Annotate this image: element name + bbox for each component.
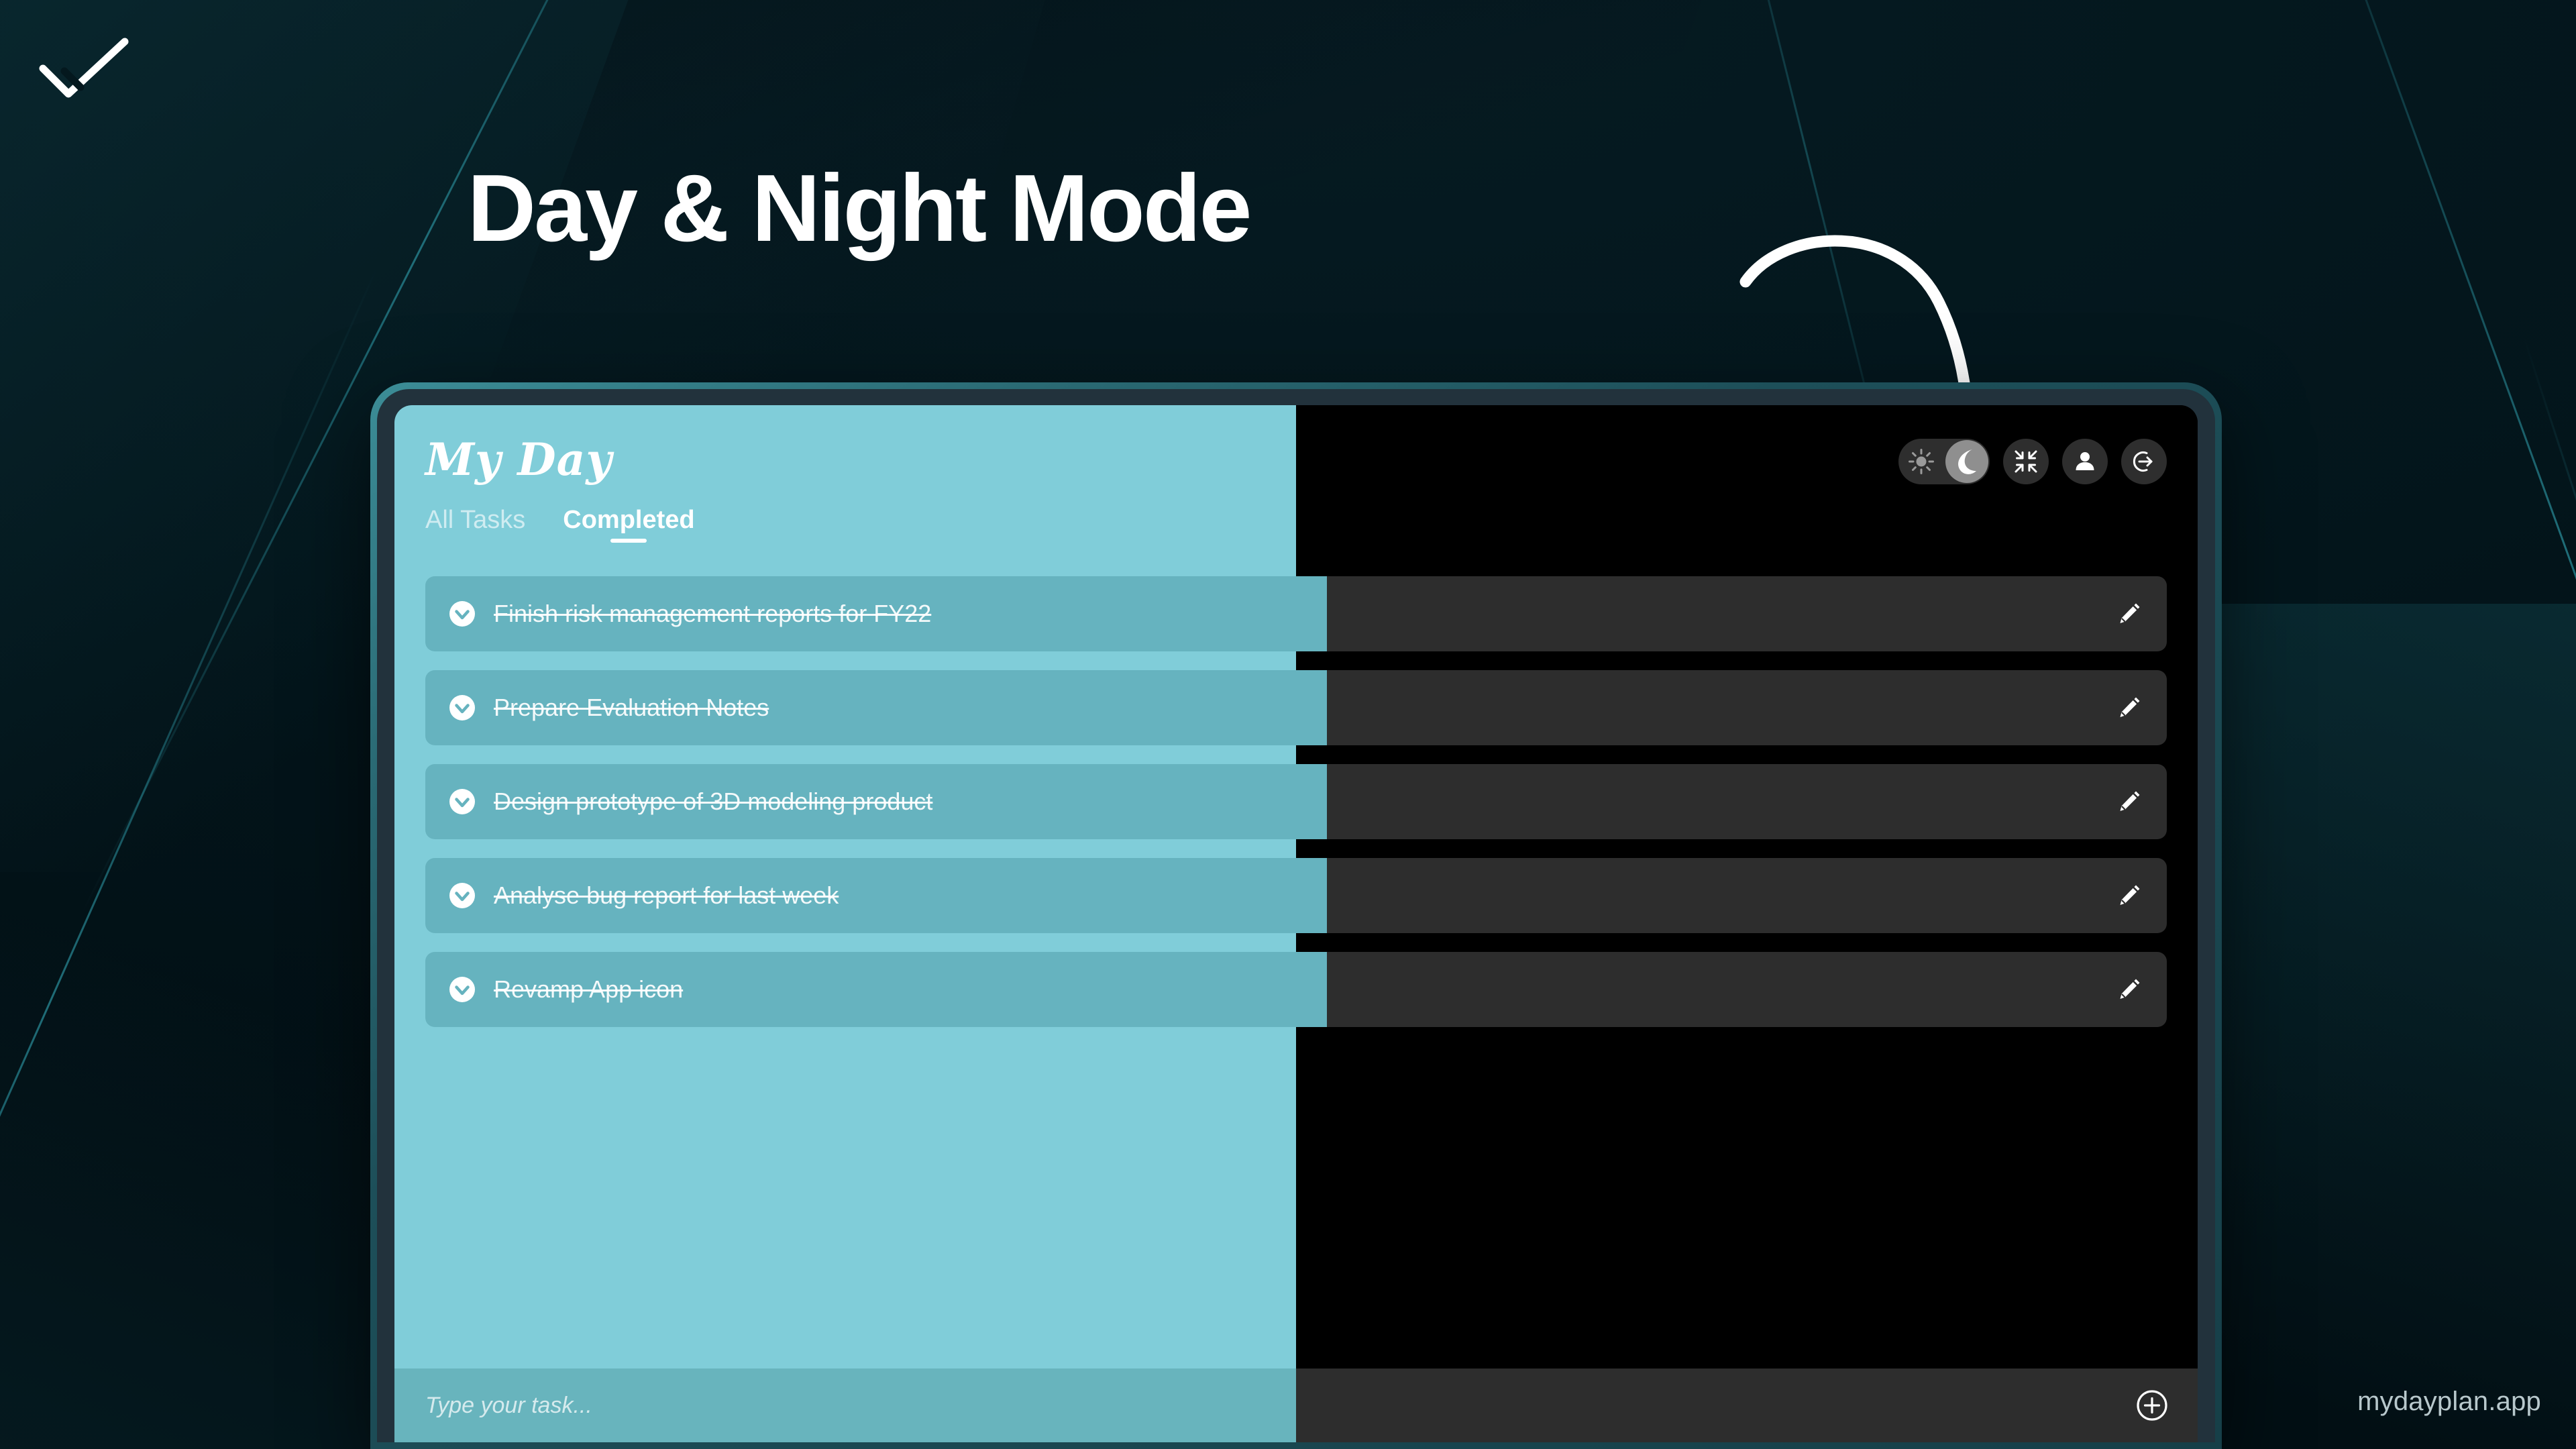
page-title: Day & Night Mode — [0, 161, 1717, 256]
task-row[interactable]: Prepare Evaluation Notes — [425, 670, 2167, 745]
edit-task-button[interactable] — [2112, 596, 2147, 631]
app-ui-layer: My Day All Tasks Completed — [394, 405, 2198, 1442]
pencil-icon — [2116, 788, 2143, 815]
device-screen: My Day All Tasks Completed — [394, 405, 2198, 1442]
edit-task-button[interactable] — [2112, 972, 2147, 1007]
login-button[interactable] — [2121, 439, 2167, 484]
task-list: Finish risk management reports for FY22 — [425, 576, 2167, 1046]
tab-all-tasks-label: All Tasks — [425, 506, 525, 534]
check-circle-icon[interactable] — [448, 975, 476, 1004]
user-icon — [2073, 449, 2097, 474]
collapse-button[interactable] — [2003, 439, 2049, 484]
app-title: My Day — [425, 433, 612, 486]
check-circle-icon[interactable] — [448, 881, 476, 910]
app-toolbar — [1898, 439, 2167, 484]
task-label: Design prototype of 3D modeling product — [494, 788, 932, 816]
plus-circle-icon — [2135, 1389, 2169, 1422]
task-label: Prepare Evaluation Notes — [494, 694, 769, 722]
row-fill-dark — [1327, 764, 2167, 839]
task-label: Revamp App icon — [494, 975, 683, 1004]
tab-completed-label: Completed — [563, 506, 694, 534]
check-circle-icon[interactable] — [448, 600, 476, 628]
device-bezel: My Day All Tasks Completed — [377, 389, 2215, 1442]
pencil-icon — [2116, 600, 2143, 627]
composer-fill-dark — [1296, 1368, 2198, 1442]
task-row[interactable]: Analyse bug report for last week — [425, 858, 2167, 933]
row-fill-dark — [1327, 670, 2167, 745]
task-row[interactable]: Revamp App icon — [425, 952, 2167, 1027]
compress-arrows-icon — [2014, 449, 2038, 474]
sun-icon — [1908, 448, 1935, 475]
edit-task-button[interactable] — [2112, 784, 2147, 819]
moon-icon — [1952, 447, 1982, 476]
pencil-icon — [2116, 694, 2143, 721]
tab-completed[interactable]: Completed — [563, 506, 694, 544]
double-checkmark-logo-icon — [34, 32, 134, 113]
task-label: Analyse bug report for last week — [494, 881, 839, 910]
site-watermark: mydayplan.app — [2357, 1387, 2541, 1417]
add-task-button[interactable] — [2133, 1387, 2171, 1424]
edit-task-button[interactable] — [2112, 690, 2147, 725]
pencil-icon — [2116, 882, 2143, 909]
edit-task-button[interactable] — [2112, 878, 2147, 913]
promo-stage: Day & Night Mode mydayplan.app My Day Al… — [0, 0, 2576, 1449]
tab-all-tasks[interactable]: All Tasks — [425, 506, 525, 544]
check-circle-icon[interactable] — [448, 694, 476, 722]
tab-bar: All Tasks Completed — [425, 506, 695, 544]
check-circle-icon[interactable] — [448, 788, 476, 816]
row-fill-dark — [1327, 576, 2167, 651]
task-label: Finish risk management reports for FY22 — [494, 600, 931, 628]
pencil-icon — [2116, 976, 2143, 1003]
task-composer — [394, 1368, 2198, 1442]
arrow-into-circle-icon — [2132, 449, 2156, 474]
day-night-toggle[interactable] — [1898, 439, 1990, 484]
row-fill-dark — [1327, 952, 2167, 1027]
profile-button[interactable] — [2062, 439, 2108, 484]
task-row[interactable]: Design prototype of 3D modeling product — [425, 764, 2167, 839]
new-task-input[interactable] — [425, 1393, 1230, 1419]
task-row[interactable]: Finish risk management reports for FY22 — [425, 576, 2167, 651]
row-fill-dark — [1327, 858, 2167, 933]
device-frame: My Day All Tasks Completed — [370, 382, 2222, 1449]
